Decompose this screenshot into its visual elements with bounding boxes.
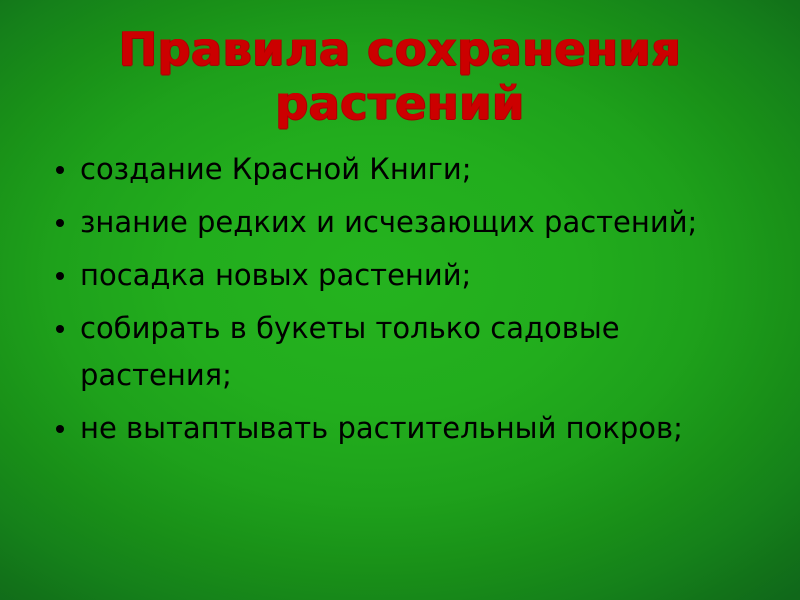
list-item: создание Красной Книги;	[44, 146, 760, 193]
list-item: посадка новых растений;	[44, 252, 760, 299]
bullet-dot-icon	[56, 425, 64, 433]
list-item-label: собирать в букеты только садовые растени…	[80, 305, 760, 399]
list-item: знание редких и исчезающих растений;	[44, 199, 760, 246]
slide-canvas: Правила сохранения растений создание Кра…	[0, 0, 800, 600]
list-item-label: знание редких и исчезающих растений;	[80, 199, 760, 246]
list-item-label: посадка новых растений;	[80, 252, 760, 299]
bullet-dot-icon	[56, 219, 64, 227]
page-title: Правила сохранения растений	[60, 22, 740, 130]
list-item-label: создание Красной Книги;	[80, 146, 760, 193]
bullet-dot-icon	[56, 272, 64, 280]
list-item: не вытаптывать растительный покров;	[44, 405, 760, 452]
list-item-label: не вытаптывать растительный покров;	[80, 405, 760, 452]
list-item: собирать в букеты только садовые растени…	[44, 305, 760, 399]
bullet-dot-icon	[56, 166, 64, 174]
rules-bullet-list: создание Красной Книги; знание редких и …	[44, 146, 760, 452]
bullet-dot-icon	[56, 325, 64, 333]
